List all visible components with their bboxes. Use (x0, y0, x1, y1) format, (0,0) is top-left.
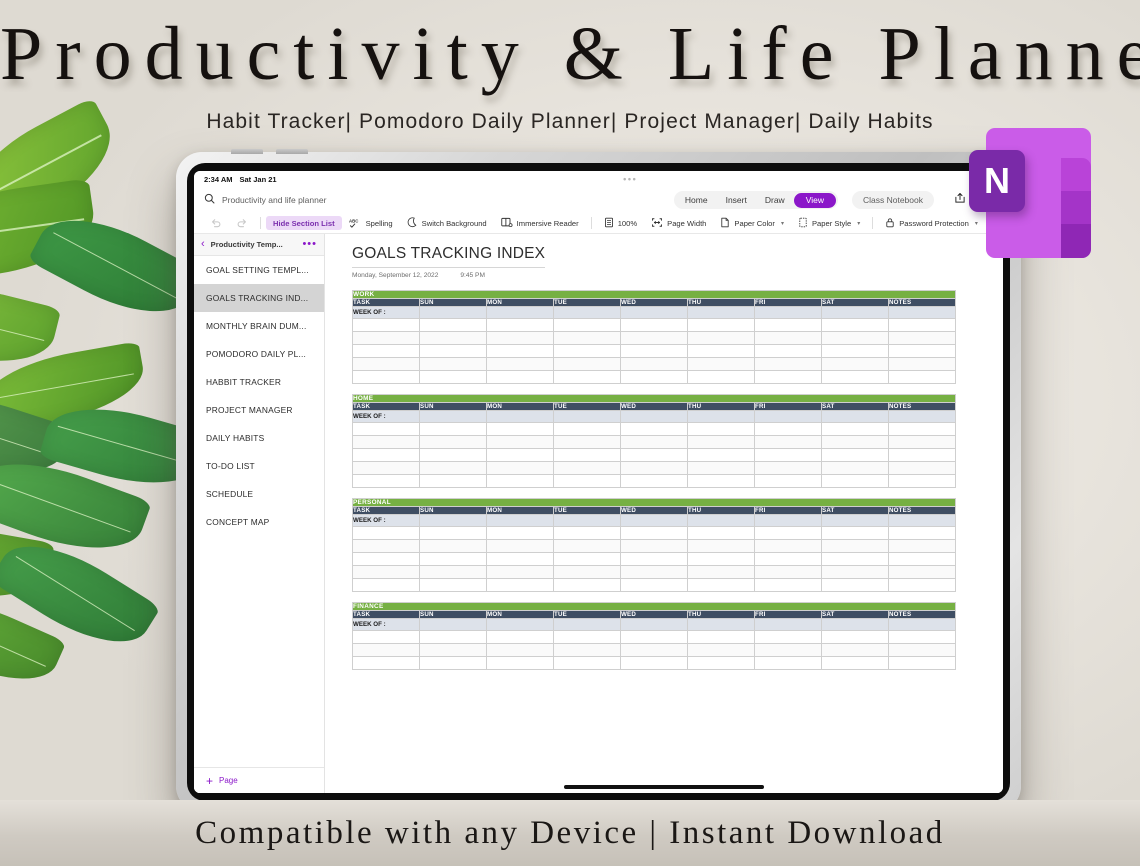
column-header-thu: THU (688, 611, 755, 619)
tab-draw[interactable]: Draw (756, 193, 794, 208)
table-week-of-row[interactable]: WEEK OF : (353, 515, 956, 527)
table-cell[interactable] (353, 631, 420, 644)
table-cell[interactable] (822, 553, 889, 566)
table-cell[interactable] (554, 345, 621, 358)
table-cell[interactable] (688, 319, 755, 332)
ribbon-divider-2 (591, 217, 592, 229)
table-cell[interactable] (487, 553, 554, 566)
volume-down-button[interactable] (276, 149, 308, 154)
week-of-cell[interactable] (889, 307, 956, 319)
table-cell[interactable] (621, 631, 688, 644)
table-cell[interactable] (688, 332, 755, 345)
table-cell[interactable] (621, 475, 688, 488)
table-cell[interactable] (353, 657, 420, 670)
table-row[interactable] (353, 423, 956, 436)
search-icon (204, 191, 215, 209)
week-of-cell[interactable] (621, 515, 688, 527)
table-cell[interactable] (487, 319, 554, 332)
table-cell[interactable] (554, 657, 621, 670)
table-cell[interactable] (621, 436, 688, 449)
table-column-header: TASKSUNMONTUEWEDTHUFRISATNOTES (353, 507, 956, 515)
table-cell[interactable] (420, 423, 487, 436)
table-cell[interactable] (688, 423, 755, 436)
table-row[interactable] (353, 475, 956, 488)
redo-button[interactable] (229, 216, 255, 230)
page-width-button[interactable]: Page Width (644, 216, 713, 230)
table-cell[interactable] (554, 423, 621, 436)
add-page-button[interactable]: + Page (194, 767, 324, 793)
immersive-reader-label: Immersive Reader (517, 219, 579, 228)
sidebar-item-pomodoro-daily-planner[interactable]: POMODORO DAILY PL... (194, 340, 324, 368)
table-cell[interactable] (688, 462, 755, 475)
column-header-thu: THU (688, 403, 755, 411)
week-of-label[interactable]: WEEK OF : (353, 307, 420, 319)
table-cell[interactable] (755, 332, 822, 345)
table-cell[interactable] (755, 540, 822, 553)
paper-style-icon (798, 217, 808, 230)
goals-table-finance[interactable]: FINANCETASKSUNMONTUEWEDTHUFRISATNOTESWEE… (352, 602, 956, 670)
table-cell[interactable] (487, 449, 554, 462)
column-header-fri: FRI (755, 403, 822, 411)
table-cell[interactable] (889, 462, 956, 475)
table-row[interactable] (353, 540, 956, 553)
page-width-label: Page Width (667, 219, 706, 228)
table-cell[interactable] (755, 553, 822, 566)
search-bar[interactable]: Productivity and life planner (204, 191, 326, 209)
column-header-wed: WED (621, 507, 688, 515)
table-cell[interactable] (353, 644, 420, 657)
table-cell[interactable] (688, 358, 755, 371)
table-cell[interactable] (755, 319, 822, 332)
share-icon[interactable] (954, 191, 966, 209)
table-cell[interactable] (353, 436, 420, 449)
table-row[interactable] (353, 449, 956, 462)
week-of-cell[interactable] (420, 515, 487, 527)
status-time: 2:34 AM (204, 175, 232, 184)
table-cell[interactable] (621, 644, 688, 657)
table-cell[interactable] (420, 358, 487, 371)
table-cell[interactable] (822, 540, 889, 553)
table-cell[interactable] (554, 436, 621, 449)
search-input[interactable]: Productivity and life planner (222, 195, 326, 205)
table-row[interactable] (353, 358, 956, 371)
week-of-cell[interactable] (621, 307, 688, 319)
table-row[interactable] (353, 527, 956, 540)
table-row[interactable] (353, 566, 956, 579)
table-cell[interactable] (889, 332, 956, 345)
table-cell[interactable] (353, 358, 420, 371)
week-of-cell[interactable] (688, 515, 755, 527)
table-column-header: TASKSUNMONTUEWEDTHUFRISATNOTES (353, 299, 956, 307)
table-cell[interactable] (487, 527, 554, 540)
table-cell[interactable] (822, 449, 889, 462)
note-page[interactable]: GOALS TRACKING INDEX Monday, September 1… (325, 234, 1003, 793)
week-of-cell[interactable] (889, 515, 956, 527)
column-header-sun: SUN (420, 507, 487, 515)
table-cell[interactable] (554, 527, 621, 540)
table-cell[interactable] (353, 319, 420, 332)
table-cell[interactable] (487, 436, 554, 449)
table-cell[interactable] (688, 566, 755, 579)
week-of-cell[interactable] (755, 411, 822, 423)
table-cell[interactable] (487, 332, 554, 345)
table-row[interactable] (353, 345, 956, 358)
week-of-cell[interactable] (688, 307, 755, 319)
table-cell[interactable] (688, 475, 755, 488)
status-date: Sat Jan 21 (239, 175, 276, 184)
chevron-down-icon: ▾ (781, 220, 784, 227)
sidebar-item-schedule[interactable]: SCHEDULE (194, 480, 324, 508)
spelling-button[interactable]: ABC Spelling (342, 216, 400, 230)
table-cell[interactable] (822, 657, 889, 670)
table-cell[interactable] (755, 371, 822, 384)
table-cell[interactable] (621, 371, 688, 384)
paper-style-label: Paper Style (812, 219, 851, 228)
table-cell[interactable] (755, 449, 822, 462)
table-cell[interactable] (420, 644, 487, 657)
column-header-sat: SAT (822, 299, 889, 307)
table-cell[interactable] (688, 579, 755, 592)
table-cell[interactable] (755, 475, 822, 488)
table-cell[interactable] (554, 540, 621, 553)
table-cell[interactable] (487, 423, 554, 436)
table-cell[interactable] (420, 449, 487, 462)
table-week-of-row[interactable]: WEEK OF : (353, 411, 956, 423)
goals-table-personal[interactable]: PERSONALTASKSUNMONTUEWEDTHUFRISATNOTESWE… (352, 498, 956, 592)
table-cell[interactable] (554, 449, 621, 462)
table-week-of-row[interactable]: WEEK OF : (353, 619, 956, 631)
table-cell[interactable] (889, 657, 956, 670)
table-cell[interactable] (621, 423, 688, 436)
password-protection-button[interactable]: Password Protection ▾ (878, 216, 985, 230)
table-cell[interactable] (688, 644, 755, 657)
table-cell[interactable] (353, 371, 420, 384)
table-cell[interactable] (755, 436, 822, 449)
table-cell[interactable] (822, 345, 889, 358)
week-of-cell[interactable] (621, 619, 688, 631)
table-cell[interactable] (554, 371, 621, 384)
table-cell[interactable] (889, 423, 956, 436)
table-cell[interactable] (889, 527, 956, 540)
table-row[interactable] (353, 553, 956, 566)
table-cell[interactable] (554, 579, 621, 592)
table-cell[interactable] (487, 631, 554, 644)
week-of-cell[interactable] (755, 619, 822, 631)
switch-background-button[interactable]: Switch Background (400, 216, 494, 230)
table-row[interactable] (353, 436, 956, 449)
table-cell[interactable] (755, 579, 822, 592)
table-cell[interactable] (688, 527, 755, 540)
table-cell[interactable] (822, 319, 889, 332)
table-cell[interactable] (487, 579, 554, 592)
table-cell[interactable] (822, 462, 889, 475)
table-cell[interactable] (621, 345, 688, 358)
tab-insert[interactable]: Insert (717, 193, 756, 208)
table-cell[interactable] (822, 566, 889, 579)
add-page-label: Page (219, 776, 238, 785)
table-cell[interactable] (889, 319, 956, 332)
table-cell[interactable] (487, 358, 554, 371)
week-of-cell[interactable] (889, 411, 956, 423)
onenote-logo-tab-3 (1061, 224, 1091, 258)
column-header-fri: FRI (755, 507, 822, 515)
table-cell[interactable] (621, 566, 688, 579)
week-of-cell[interactable] (688, 619, 755, 631)
column-header-notes: NOTES (889, 299, 956, 307)
table-cell[interactable] (889, 644, 956, 657)
tab-home[interactable]: Home (676, 193, 717, 208)
table-row[interactable] (353, 319, 956, 332)
table-cell[interactable] (755, 462, 822, 475)
plus-icon: + (206, 775, 213, 787)
table-cell[interactable] (621, 540, 688, 553)
table-cell[interactable] (353, 475, 420, 488)
column-header-task: TASK (353, 507, 420, 515)
column-header-mon: MON (487, 299, 554, 307)
table-cell[interactable] (755, 657, 822, 670)
undo-button[interactable] (203, 216, 229, 230)
table-cell[interactable] (889, 579, 956, 592)
table-cell[interactable] (688, 371, 755, 384)
tab-view[interactable]: View (794, 193, 836, 208)
table-cell[interactable] (554, 475, 621, 488)
sidebar-item-habbit-tracker[interactable]: HABBIT TRACKER (194, 368, 324, 396)
week-of-cell[interactable] (420, 619, 487, 631)
table-cell[interactable] (554, 644, 621, 657)
table-cell[interactable] (554, 332, 621, 345)
table-cell[interactable] (420, 527, 487, 540)
paper-style-button[interactable]: Paper Style ▾ (791, 216, 867, 230)
onenote-logo-letter: N (969, 150, 1025, 212)
immersive-reader-button[interactable]: Immersive Reader (494, 216, 586, 230)
table-cell[interactable] (822, 436, 889, 449)
table-cell[interactable] (420, 436, 487, 449)
table-cell[interactable] (621, 527, 688, 540)
notebook-title: Productivity Temp... (211, 240, 297, 249)
table-cell[interactable] (554, 358, 621, 371)
table-cell[interactable] (420, 631, 487, 644)
table-cell[interactable] (487, 566, 554, 579)
table-cell[interactable] (621, 358, 688, 371)
table-cell[interactable] (822, 371, 889, 384)
table-cell[interactable] (688, 631, 755, 644)
week-of-cell[interactable] (487, 307, 554, 319)
table-row[interactable] (353, 462, 956, 475)
table-row[interactable] (353, 644, 956, 657)
table-cell[interactable] (487, 475, 554, 488)
table-cell[interactable] (353, 449, 420, 462)
table-cell[interactable] (353, 540, 420, 553)
note-title[interactable]: GOALS TRACKING INDEX (352, 245, 545, 268)
table-cell[interactable] (621, 657, 688, 670)
table-cell[interactable] (889, 475, 956, 488)
zoom-level-button[interactable]: 100% (597, 216, 644, 230)
table-cell[interactable] (487, 540, 554, 553)
table-cell[interactable] (755, 566, 822, 579)
week-of-label[interactable]: WEEK OF : (353, 619, 420, 631)
table-cell[interactable] (353, 423, 420, 436)
table-cell[interactable] (487, 345, 554, 358)
week-of-cell[interactable] (554, 515, 621, 527)
week-of-label[interactable]: WEEK OF : (353, 411, 420, 423)
table-cell[interactable] (554, 319, 621, 332)
moon-icon (407, 217, 418, 230)
table-cell[interactable] (755, 423, 822, 436)
column-header-mon: MON (487, 507, 554, 515)
note-date: Monday, September 12, 2022 (352, 272, 438, 279)
table-cell[interactable] (353, 566, 420, 579)
week-of-cell[interactable] (487, 515, 554, 527)
table-cell[interactable] (822, 475, 889, 488)
table-cell[interactable] (621, 332, 688, 345)
view-ribbon: Hide Section List ABC Spelling Switch Ba… (194, 213, 1003, 234)
table-cell[interactable] (353, 332, 420, 345)
table-cell[interactable] (755, 345, 822, 358)
table-cell[interactable] (487, 644, 554, 657)
tab-class-notebook[interactable]: Class Notebook (852, 191, 934, 209)
table-cell[interactable] (554, 566, 621, 579)
table-row[interactable] (353, 631, 956, 644)
table-cell[interactable] (755, 527, 822, 540)
table-cell[interactable] (353, 553, 420, 566)
table-row[interactable] (353, 371, 956, 384)
table-row[interactable] (353, 332, 956, 345)
week-of-label[interactable]: WEEK OF : (353, 515, 420, 527)
table-cell[interactable] (889, 540, 956, 553)
table-cell[interactable] (755, 644, 822, 657)
hide-section-list-button[interactable]: Hide Section List (266, 216, 342, 230)
goals-table-home[interactable]: HOMETASKSUNMONTUEWEDTHUFRISATNOTESWEEK O… (352, 394, 956, 488)
week-of-cell[interactable] (420, 307, 487, 319)
sidebar-item-goal-setting-template[interactable]: GOAL SETTING TEMPL... (194, 256, 324, 284)
table-week-of-row[interactable]: WEEK OF : (353, 307, 956, 319)
week-of-cell[interactable] (487, 619, 554, 631)
table-cell[interactable] (822, 644, 889, 657)
table-cell[interactable] (487, 371, 554, 384)
ribbon-divider (260, 217, 261, 229)
table-cell[interactable] (353, 345, 420, 358)
table-cell[interactable] (621, 449, 688, 462)
table-cell[interactable] (420, 657, 487, 670)
sidebar-item-concept-map[interactable]: CONCEPT MAP (194, 508, 324, 536)
table-cell[interactable] (554, 631, 621, 644)
week-of-cell[interactable] (487, 411, 554, 423)
sidebar-item-goals-tracking-index[interactable]: GOALS TRACKING IND... (194, 284, 324, 312)
table-cell[interactable] (822, 332, 889, 345)
table-cell[interactable] (420, 345, 487, 358)
table-cell[interactable] (353, 462, 420, 475)
table-cell[interactable] (420, 579, 487, 592)
table-cell[interactable] (420, 462, 487, 475)
table-cell[interactable] (889, 345, 956, 358)
table-cell[interactable] (688, 657, 755, 670)
table-cell[interactable] (487, 657, 554, 670)
paper-color-button[interactable]: Paper Color ▾ (713, 216, 791, 230)
table-cell[interactable] (487, 462, 554, 475)
week-of-cell[interactable] (822, 411, 889, 423)
table-cell[interactable] (420, 319, 487, 332)
table-cell[interactable] (889, 566, 956, 579)
table-cell[interactable] (889, 631, 956, 644)
table-cell[interactable] (420, 540, 487, 553)
table-cell[interactable] (889, 449, 956, 462)
table-cell[interactable] (755, 358, 822, 371)
table-row[interactable] (353, 579, 956, 592)
week-of-cell[interactable] (822, 619, 889, 631)
table-cell[interactable] (889, 371, 956, 384)
chevron-left-icon[interactable]: ‹ (201, 239, 205, 250)
week-of-cell[interactable] (554, 411, 621, 423)
table-cell[interactable] (554, 553, 621, 566)
goals-table-work[interactable]: WORKTASKSUNMONTUEWEDTHUFRISATNOTESWEEK O… (352, 290, 956, 384)
week-of-cell[interactable] (822, 515, 889, 527)
week-of-cell[interactable] (755, 515, 822, 527)
week-of-cell[interactable] (688, 411, 755, 423)
note-meta: Monday, September 12, 2022 9:45 PM (352, 272, 981, 279)
table-cell[interactable] (688, 449, 755, 462)
paper-color-label: Paper Color (734, 219, 775, 228)
week-of-cell[interactable] (755, 307, 822, 319)
page-subtitle: Habit Tracker| Pomodoro Daily Planner| P… (0, 110, 1140, 134)
table-cell[interactable] (621, 462, 688, 475)
workarea: ‹ Productivity Temp... ••• GOAL SETTING … (194, 234, 1003, 793)
table-cell[interactable] (420, 553, 487, 566)
week-of-cell[interactable] (621, 411, 688, 423)
table-cell[interactable] (889, 553, 956, 566)
table-cell[interactable] (889, 436, 956, 449)
table-cell[interactable] (755, 631, 822, 644)
table-cell[interactable] (353, 527, 420, 540)
volume-up-button[interactable] (231, 149, 263, 154)
table-cell[interactable] (822, 527, 889, 540)
week-of-cell[interactable] (822, 307, 889, 319)
table-cell[interactable] (822, 423, 889, 436)
table-cell[interactable] (420, 475, 487, 488)
table-cell[interactable] (688, 553, 755, 566)
table-row[interactable] (353, 657, 956, 670)
table-cell[interactable] (822, 358, 889, 371)
table-cell[interactable] (889, 358, 956, 371)
sidebar-item-project-manager[interactable]: PROJECT MANAGER (194, 396, 324, 424)
week-of-cell[interactable] (554, 619, 621, 631)
home-indicator[interactable] (564, 785, 764, 789)
table-cell[interactable] (420, 332, 487, 345)
table-cell[interactable] (688, 436, 755, 449)
table-cell[interactable] (554, 462, 621, 475)
column-header-tue: TUE (554, 611, 621, 619)
sidebar-item-monthly-brain-dump[interactable]: MONTHLY BRAIN DUM... (194, 312, 324, 340)
table-cell[interactable] (621, 553, 688, 566)
week-of-cell[interactable] (554, 307, 621, 319)
spelling-abc-icon: ABC (349, 217, 362, 230)
column-header-sat: SAT (822, 403, 889, 411)
table-cell[interactable] (822, 631, 889, 644)
table-cell[interactable] (621, 579, 688, 592)
sidebar-item-to-do-list[interactable]: TO-DO LIST (194, 452, 324, 480)
week-of-cell[interactable] (889, 619, 956, 631)
table-cell[interactable] (688, 345, 755, 358)
table-cell[interactable] (420, 371, 487, 384)
sidebar-item-daily-habits[interactable]: DAILY HABITS (194, 424, 324, 452)
table-cell[interactable] (353, 579, 420, 592)
table-cell[interactable] (822, 579, 889, 592)
more-dots-icon[interactable]: ••• (302, 239, 317, 250)
table-cell[interactable] (420, 566, 487, 579)
table-cell[interactable] (621, 319, 688, 332)
week-of-cell[interactable] (420, 411, 487, 423)
spelling-label: Spelling (366, 219, 393, 228)
table-cell[interactable] (688, 540, 755, 553)
